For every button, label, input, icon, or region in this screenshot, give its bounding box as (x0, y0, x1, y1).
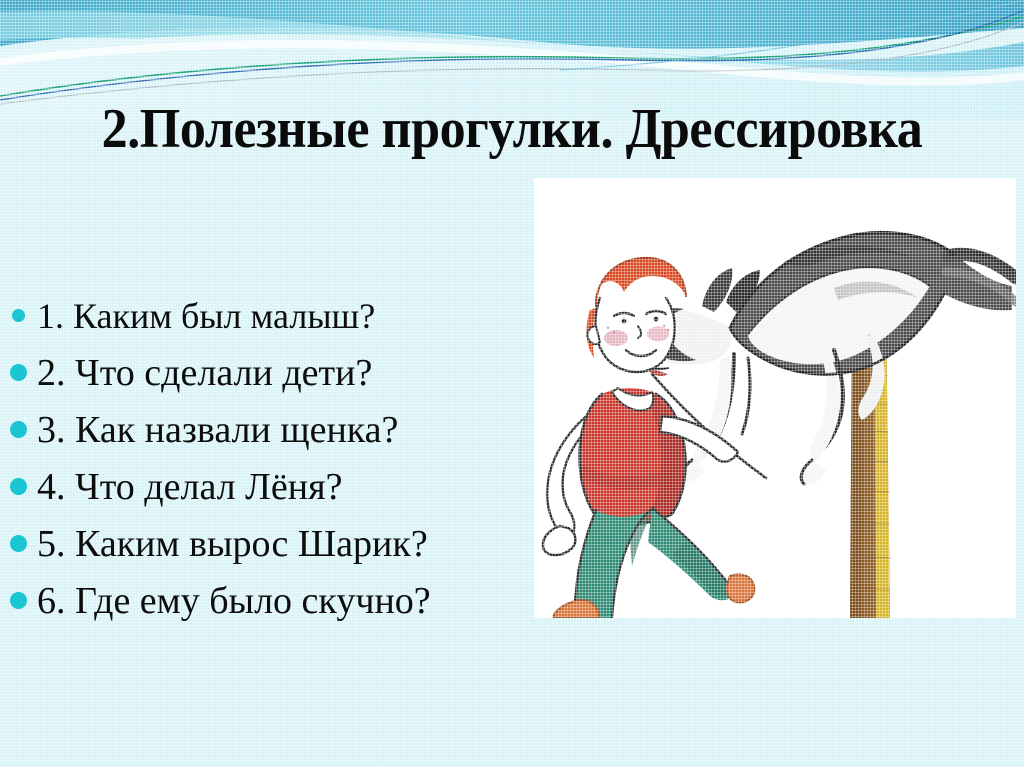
list-item-label: 4. Что делал Лёня? (37, 468, 342, 506)
bullet-dot-icon (10, 592, 27, 609)
illustration-image (534, 178, 1016, 618)
list-item: 3. Как назвали щенка? (8, 401, 538, 458)
question-list: 1. Каким был малыш? 2. Что сделали дети?… (8, 287, 538, 629)
list-item: 1. Каким был малыш? (8, 287, 538, 344)
bullet-dot-icon (12, 309, 25, 322)
bullet-dot-icon (10, 421, 27, 438)
list-item: 5. Каким вырос Шарик? (8, 515, 538, 572)
bullet-dot-icon (10, 364, 27, 381)
list-item-label: 1. Каким был малыш? (37, 298, 375, 334)
bullet-dot-icon (10, 478, 27, 495)
list-item-label: 3. Как назвали щенка? (37, 411, 398, 449)
page-title: 2.Полезные прогулки. Дрессировка (36, 100, 988, 159)
list-item: 4. Что делал Лёня? (8, 458, 538, 515)
list-item: 2. Что сделали дети? (8, 344, 538, 401)
list-item-label: 2. Что сделали дети? (37, 354, 372, 392)
list-item-label: 5. Каким вырос Шарик? (37, 525, 428, 563)
list-item: 6. Где ему было скучно? (8, 572, 538, 629)
slide: 2.Полезные прогулки. Дрессировка 1. Каки… (0, 0, 1024, 767)
bullet-dot-icon (10, 535, 27, 552)
list-item-label: 6. Где ему было скучно? (37, 582, 431, 620)
